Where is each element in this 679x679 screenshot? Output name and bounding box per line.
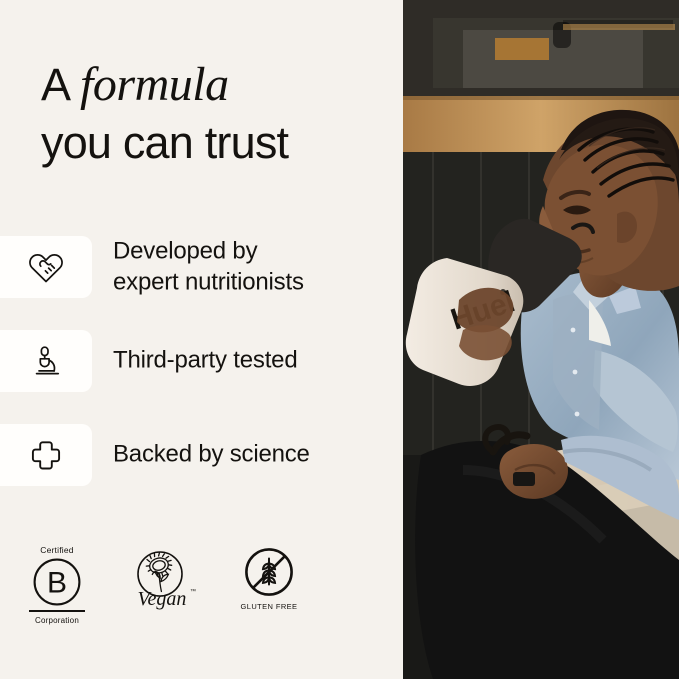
photo-illustration: Huel: [403, 0, 679, 679]
headline-line2: you can trust: [41, 117, 391, 168]
headline-line1-plain: A: [41, 59, 80, 110]
plus-cross-icon: [28, 437, 64, 473]
feature-icon-card: [0, 424, 92, 486]
b-corp-badge: Certified B Corporation: [26, 545, 88, 625]
left-content-panel: A formula you can trust: [0, 0, 403, 679]
feature-row: Developed by expert nutritionists: [0, 236, 403, 298]
feature-row: Backed by science: [0, 424, 403, 486]
feature-label: Developed by expert nutritionists: [113, 236, 398, 297]
svg-text:™: ™: [190, 588, 196, 595]
b-corp-bottom-label: Corporation: [35, 616, 79, 625]
heart-handshake-icon: [26, 249, 66, 285]
feature-label: Third-party tested: [113, 346, 398, 377]
feature-label-line1: Developed by: [113, 236, 398, 267]
promo-panel: A formula you can trust: [0, 0, 679, 679]
vegan-mark: Vegan ™: [128, 545, 198, 613]
feature-list: Developed by expert nutritionists: [0, 236, 403, 518]
feature-label-line1: Backed by science: [113, 440, 398, 471]
svg-text:Vegan: Vegan: [138, 588, 187, 610]
page-title: A formula you can trust: [41, 58, 391, 168]
vegan-badge: Vegan ™: [128, 545, 198, 613]
certification-badges: Certified B Corporation: [26, 545, 300, 625]
lifestyle-photo: Huel: [403, 0, 679, 679]
microscope-icon: [28, 343, 64, 379]
feature-icon-card: [0, 330, 92, 392]
gluten-free-mark: [242, 545, 296, 599]
feature-label-line1: Third-party tested: [113, 346, 398, 377]
b-corp-mark: B: [32, 557, 82, 607]
headline-line1-italic: formula: [80, 58, 229, 111]
svg-text:B: B: [47, 567, 67, 600]
feature-label-line2: expert nutritionists: [113, 267, 398, 298]
feature-row: Third-party tested: [0, 330, 403, 392]
feature-label: Backed by science: [113, 440, 398, 471]
gluten-free-label: GLUTEN FREE: [241, 602, 298, 611]
gluten-free-badge: GLUTEN FREE: [238, 545, 300, 611]
feature-icon-card: [0, 236, 92, 298]
b-corp-top-label: Certified: [40, 545, 73, 555]
b-corp-divider: [29, 610, 85, 612]
